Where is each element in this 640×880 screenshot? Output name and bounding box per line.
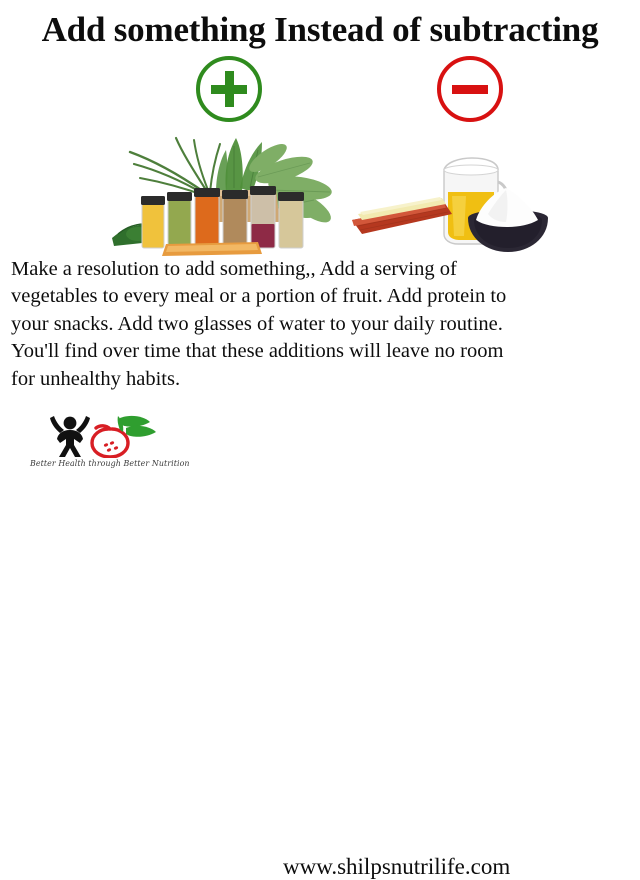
body-copy: Make a resolution to add something,, Add… xyxy=(11,256,629,393)
body-line: your snacks. Add two glasses of water to… xyxy=(11,311,629,338)
plus-circle-icon xyxy=(196,56,262,122)
fats-and-sugar-illustration xyxy=(348,130,563,258)
minus-horizontal-bar xyxy=(452,85,488,94)
nutrition-logo[interactable]: Better Health through Better Nutrition xyxy=(30,414,170,480)
herbs-and-spices-photo xyxy=(108,130,348,258)
herbs-and-spices-illustration xyxy=(108,130,348,258)
body-line: for unhealthy habits. xyxy=(11,366,629,393)
poster-canvas: Add something Instead of subtracting xyxy=(0,0,640,480)
logo-mark xyxy=(34,414,166,458)
symbols-row xyxy=(0,56,640,126)
body-line: vegetables to every meal or a portion of… xyxy=(11,283,629,310)
logo-tagline: Better Health through Better Nutrition xyxy=(30,458,174,468)
minus-circle-icon xyxy=(437,56,503,122)
photo-band xyxy=(0,130,640,258)
fats-sugar-photo xyxy=(348,130,563,258)
website-url[interactable]: www.shilpsnutrilife.com xyxy=(283,854,510,880)
page-title: Add something Instead of subtracting xyxy=(0,8,640,52)
plus-vertical-bar xyxy=(225,71,234,107)
figure-and-apple-icon xyxy=(34,414,166,458)
body-line: You'll find over time that these additio… xyxy=(11,338,629,365)
footer: Better Health through Better Nutrition w… xyxy=(0,414,640,480)
body-line: Make a resolution to add something,, Add… xyxy=(11,256,629,283)
